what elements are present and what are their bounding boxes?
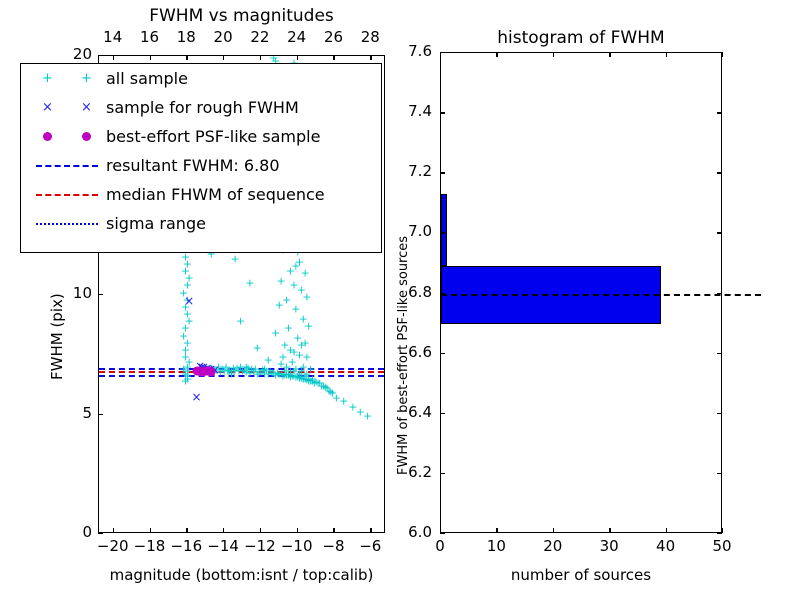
all-sample-point: +: [289, 347, 298, 358]
left-y-tick: 5: [52, 404, 92, 422]
tick-mark: [150, 55, 151, 60]
all-sample-point: +: [289, 280, 298, 291]
left-y-tick: 20: [52, 45, 92, 63]
left-bottom-tick: −10: [277, 537, 317, 555]
tick-mark: [260, 528, 261, 533]
all-sample-point: +: [300, 268, 309, 279]
tick-mark: [717, 232, 722, 233]
legend-label: sigma range: [106, 214, 206, 233]
psf-sample-point: [205, 367, 214, 376]
all-sample-point: +: [286, 344, 295, 355]
all-sample-point: +: [356, 407, 365, 418]
left-y-tick: 0: [52, 523, 92, 541]
tick-mark: [717, 353, 722, 354]
right-y-tick: 6.8: [388, 283, 432, 301]
tick-mark: [553, 52, 554, 57]
all-sample-point: +: [183, 280, 192, 291]
tick-mark: [496, 528, 497, 533]
left-top-tick: 22: [240, 28, 280, 46]
left-panel-title: FWHM vs magnitudes: [98, 6, 385, 26]
guide-line-median-fhwm-of-sequence: [99, 371, 384, 373]
right-y-tick: 7.0: [388, 222, 432, 240]
left-x-axis-label: magnitude (bottom:isnt / top:calib): [98, 566, 385, 584]
all-sample-point: +: [179, 330, 188, 341]
tick-mark: [666, 52, 667, 57]
legend-item-median-fhwm[interactable]: median FHWM of sequence: [21, 180, 381, 209]
all-sample-point: +: [302, 352, 311, 363]
tick-mark: [113, 528, 114, 533]
left-bottom-tick: −16: [166, 537, 206, 555]
tick-mark: [297, 528, 298, 533]
histogram-axes: [440, 52, 722, 533]
all-sample-point: +: [280, 340, 289, 351]
legend-item-psf-like[interactable]: best-effort PSF-like sample: [21, 122, 381, 151]
left-bottom-tick: −14: [203, 537, 243, 555]
histogram-median-line: [441, 294, 761, 296]
right-x-axis-label: number of sources: [440, 566, 722, 584]
all-sample-point: +: [277, 275, 286, 286]
all-sample-point: +: [297, 340, 306, 351]
tick-mark: [333, 528, 334, 533]
dashed-line-red-icon: [28, 180, 106, 209]
all-sample-point: +: [297, 285, 306, 296]
tick-mark: [717, 112, 722, 113]
left-top-tick: 24: [277, 28, 317, 46]
tick-mark: [440, 533, 445, 534]
all-sample-point: +: [319, 380, 328, 391]
legend-label: median FHWM of sequence: [106, 185, 325, 204]
tick-mark: [98, 533, 103, 534]
cross-icon: ××: [28, 93, 106, 122]
all-sample-point: +: [181, 368, 190, 379]
legend-item-all-sample[interactable]: ++ all sample: [21, 64, 381, 93]
left-top-tick: 16: [130, 28, 170, 46]
rough-fwhm-point: ×: [191, 391, 201, 403]
histogram-bar: [441, 194, 447, 266]
tick-mark: [223, 528, 224, 533]
all-sample-point: +: [284, 323, 293, 334]
all-sample-point: +: [295, 349, 304, 360]
all-sample-point: +: [245, 278, 254, 289]
tick-mark: [333, 55, 334, 60]
all-sample-point: +: [293, 333, 302, 344]
left-bottom-tick: −6: [350, 537, 390, 555]
right-x-tick: 20: [533, 537, 573, 555]
tick-mark: [113, 55, 114, 60]
right-x-tick: 50: [702, 537, 742, 555]
all-sample-point: +: [300, 337, 309, 348]
left-bottom-tick: −18: [130, 537, 170, 555]
all-sample-point: +: [258, 365, 267, 376]
rough-fwhm-point: ×: [184, 295, 194, 307]
all-sample-point: +: [328, 387, 337, 398]
tick-mark: [722, 52, 723, 57]
tick-mark: [609, 528, 610, 533]
all-sample-point: +: [304, 321, 313, 332]
tick-mark: [370, 528, 371, 533]
tick-mark: [666, 528, 667, 533]
all-sample-point: +: [181, 301, 190, 312]
tick-mark: [297, 55, 298, 60]
tick-mark: [440, 52, 441, 57]
dashdot-line-icon: [28, 209, 106, 238]
tick-mark: [260, 55, 261, 60]
all-sample-point: +: [183, 294, 192, 305]
figure-canvas: FWHM vs magnitudes 1416182022242628 −20−…: [0, 0, 800, 600]
left-top-tick: 20: [203, 28, 243, 46]
tick-mark: [440, 473, 445, 474]
all-sample-point: +: [278, 352, 287, 363]
tick-mark: [223, 55, 224, 60]
all-sample-point: +: [321, 382, 330, 393]
tick-mark: [722, 528, 723, 533]
all-sample-point: +: [284, 368, 293, 379]
all-sample-point: +: [317, 381, 326, 392]
tick-mark: [186, 55, 187, 60]
right-panel-title: histogram of FWHM: [440, 28, 722, 48]
all-sample-point: +: [324, 385, 333, 396]
tick-mark: [440, 413, 445, 414]
legend-item-sigma-range[interactable]: sigma range: [21, 209, 381, 238]
tick-mark: [98, 414, 103, 415]
all-sample-point: +: [299, 313, 308, 324]
left-top-tick: 28: [350, 28, 390, 46]
all-sample-point: +: [323, 383, 332, 394]
tick-mark: [553, 528, 554, 533]
tick-mark: [186, 528, 187, 533]
right-y-tick: 6.6: [388, 343, 432, 361]
tick-mark: [717, 473, 722, 474]
tick-mark: [717, 172, 722, 173]
right-x-tick: 40: [646, 537, 686, 555]
tick-mark: [150, 528, 151, 533]
all-sample-point: +: [282, 294, 291, 305]
all-sample-point: +: [288, 356, 297, 367]
all-sample-point: +: [291, 304, 300, 315]
all-sample-point: +: [277, 368, 286, 379]
guide-line-sigma-range-lower: [99, 375, 384, 377]
left-y-axis-label: FWHM (pix): [48, 293, 66, 380]
tick-mark: [440, 172, 445, 173]
tick-mark: [440, 353, 445, 354]
right-y-tick: 6.4: [388, 403, 432, 421]
all-sample-point: +: [181, 376, 190, 387]
left-bottom-tick: −20: [93, 537, 133, 555]
all-sample-point: +: [181, 352, 190, 363]
legend-label: best-effort PSF-like sample: [106, 127, 320, 146]
all-sample-point: +: [310, 377, 319, 388]
tick-mark: [496, 52, 497, 57]
all-sample-point: +: [339, 396, 348, 407]
dashed-line-blue-icon: [28, 151, 106, 180]
all-sample-point: +: [253, 342, 262, 353]
right-y-tick: 6.2: [388, 463, 432, 481]
all-sample-point: +: [181, 344, 190, 355]
all-sample-point: +: [363, 410, 372, 421]
all-sample-point: +: [286, 266, 295, 277]
tick-mark: [440, 232, 445, 233]
tick-mark: [609, 52, 610, 57]
all-sample-point: +: [326, 386, 335, 397]
all-sample-point: +: [295, 368, 304, 379]
left-top-tick: 14: [93, 28, 133, 46]
left-bottom-tick: −8: [313, 537, 353, 555]
right-x-tick: 10: [476, 537, 516, 555]
all-sample-point: +: [308, 376, 317, 387]
all-sample-point: +: [304, 376, 313, 387]
all-sample-point: +: [185, 356, 194, 367]
left-top-tick: 26: [313, 28, 353, 46]
tick-mark: [440, 112, 445, 113]
right-y-tick: 7.2: [388, 162, 432, 180]
tick-mark: [98, 294, 103, 295]
left-top-tick: 18: [166, 28, 206, 46]
all-sample-point: +: [275, 299, 284, 310]
all-sample-point: +: [179, 287, 188, 298]
plus-icon: ++: [28, 64, 106, 93]
guide-line-sigma-range-upper: [99, 368, 384, 370]
all-sample-point: +: [302, 368, 311, 379]
tick-mark: [370, 55, 371, 60]
all-sample-point: +: [253, 368, 262, 379]
all-sample-point: +: [311, 377, 320, 388]
all-sample-point: +: [313, 378, 322, 389]
all-sample-point: +: [181, 323, 190, 334]
all-sample-point: +: [332, 392, 341, 403]
legend-label: resultant FWHM: 6.80: [106, 156, 280, 175]
all-sample-point: +: [183, 309, 192, 320]
all-sample-point: +: [264, 354, 273, 365]
all-sample-point: +: [295, 256, 304, 267]
right-x-tick: 30: [589, 537, 629, 555]
right-x-tick: 0: [420, 537, 460, 555]
all-sample-point: +: [185, 316, 194, 327]
all-sample-point: +: [181, 266, 190, 277]
legend-label: all sample: [106, 69, 188, 88]
legend-item-resultant-fwhm[interactable]: resultant FWHM: 6.80: [21, 151, 381, 180]
all-sample-point: +: [315, 378, 324, 389]
tick-mark: [440, 528, 441, 533]
tick-mark: [717, 413, 722, 414]
all-sample-point: +: [183, 337, 192, 348]
all-sample-point: +: [236, 316, 245, 327]
legend-item-rough-fwhm[interactable]: ×× sample for rough FWHM: [21, 93, 381, 122]
all-sample-point: +: [227, 368, 236, 379]
tick-mark: [717, 533, 722, 534]
legend-label: sample for rough FWHM: [106, 98, 299, 117]
all-sample-point: +: [231, 254, 240, 265]
all-sample-point: +: [348, 402, 357, 413]
tick-mark: [98, 55, 103, 56]
right-y-tick: 7.6: [388, 42, 432, 60]
right-y-tick: 7.4: [388, 102, 432, 120]
all-sample-point: +: [291, 261, 300, 272]
plot-legend: ++ all sample ×× sample for rough FWHM b…: [20, 63, 382, 253]
circle-icon: [28, 122, 106, 151]
all-sample-point: +: [271, 328, 280, 339]
all-sample-point: +: [302, 292, 311, 303]
all-sample-point: +: [185, 273, 194, 284]
all-sample-point: +: [293, 372, 302, 383]
left-bottom-tick: −12: [240, 537, 280, 555]
all-sample-point: +: [183, 258, 192, 269]
all-sample-point: +: [231, 365, 240, 376]
